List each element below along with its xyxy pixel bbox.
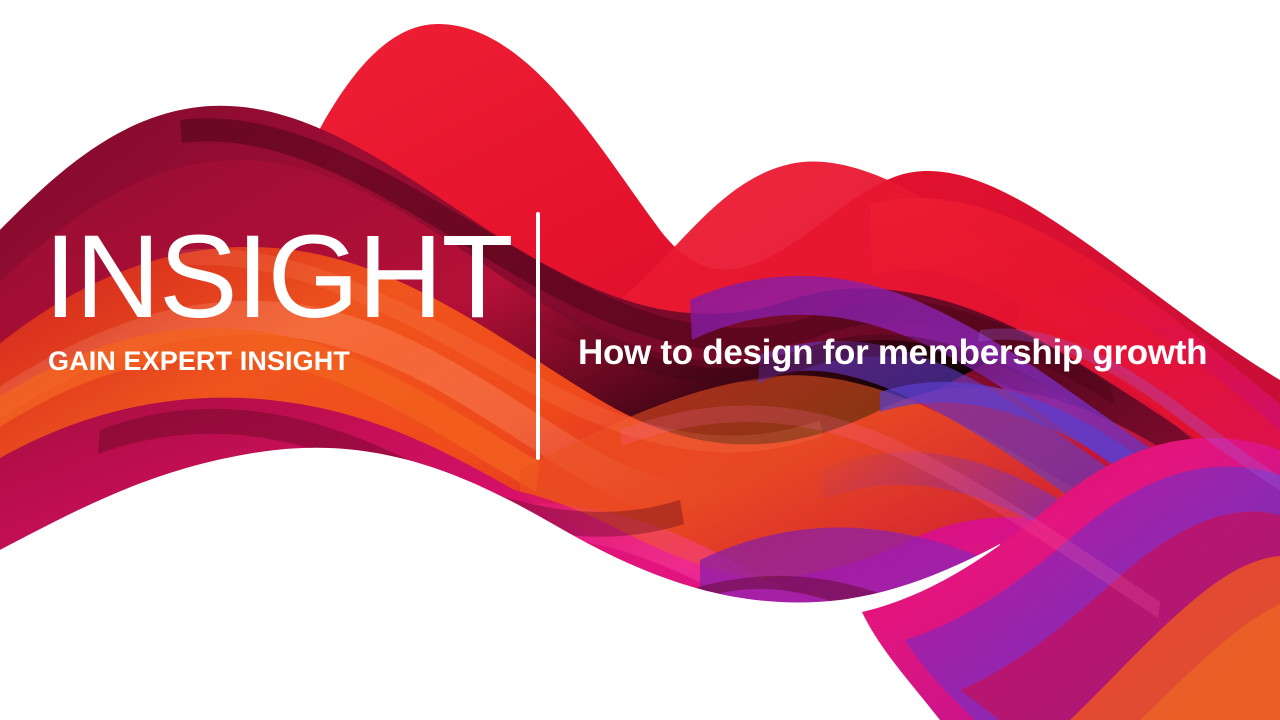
slide-headline: How to design for membership growth: [578, 333, 1258, 373]
vertical-divider: [536, 212, 540, 460]
brand-lockup: INSIGHT GAIN EXPERT INSIGHT: [44, 218, 514, 377]
brand-tagline: GAIN EXPERT INSIGHT: [48, 346, 514, 377]
presentation-slide: INSIGHT GAIN EXPERT INSIGHT How to desig…: [0, 0, 1280, 720]
page-title: INSIGHT: [44, 218, 514, 336]
